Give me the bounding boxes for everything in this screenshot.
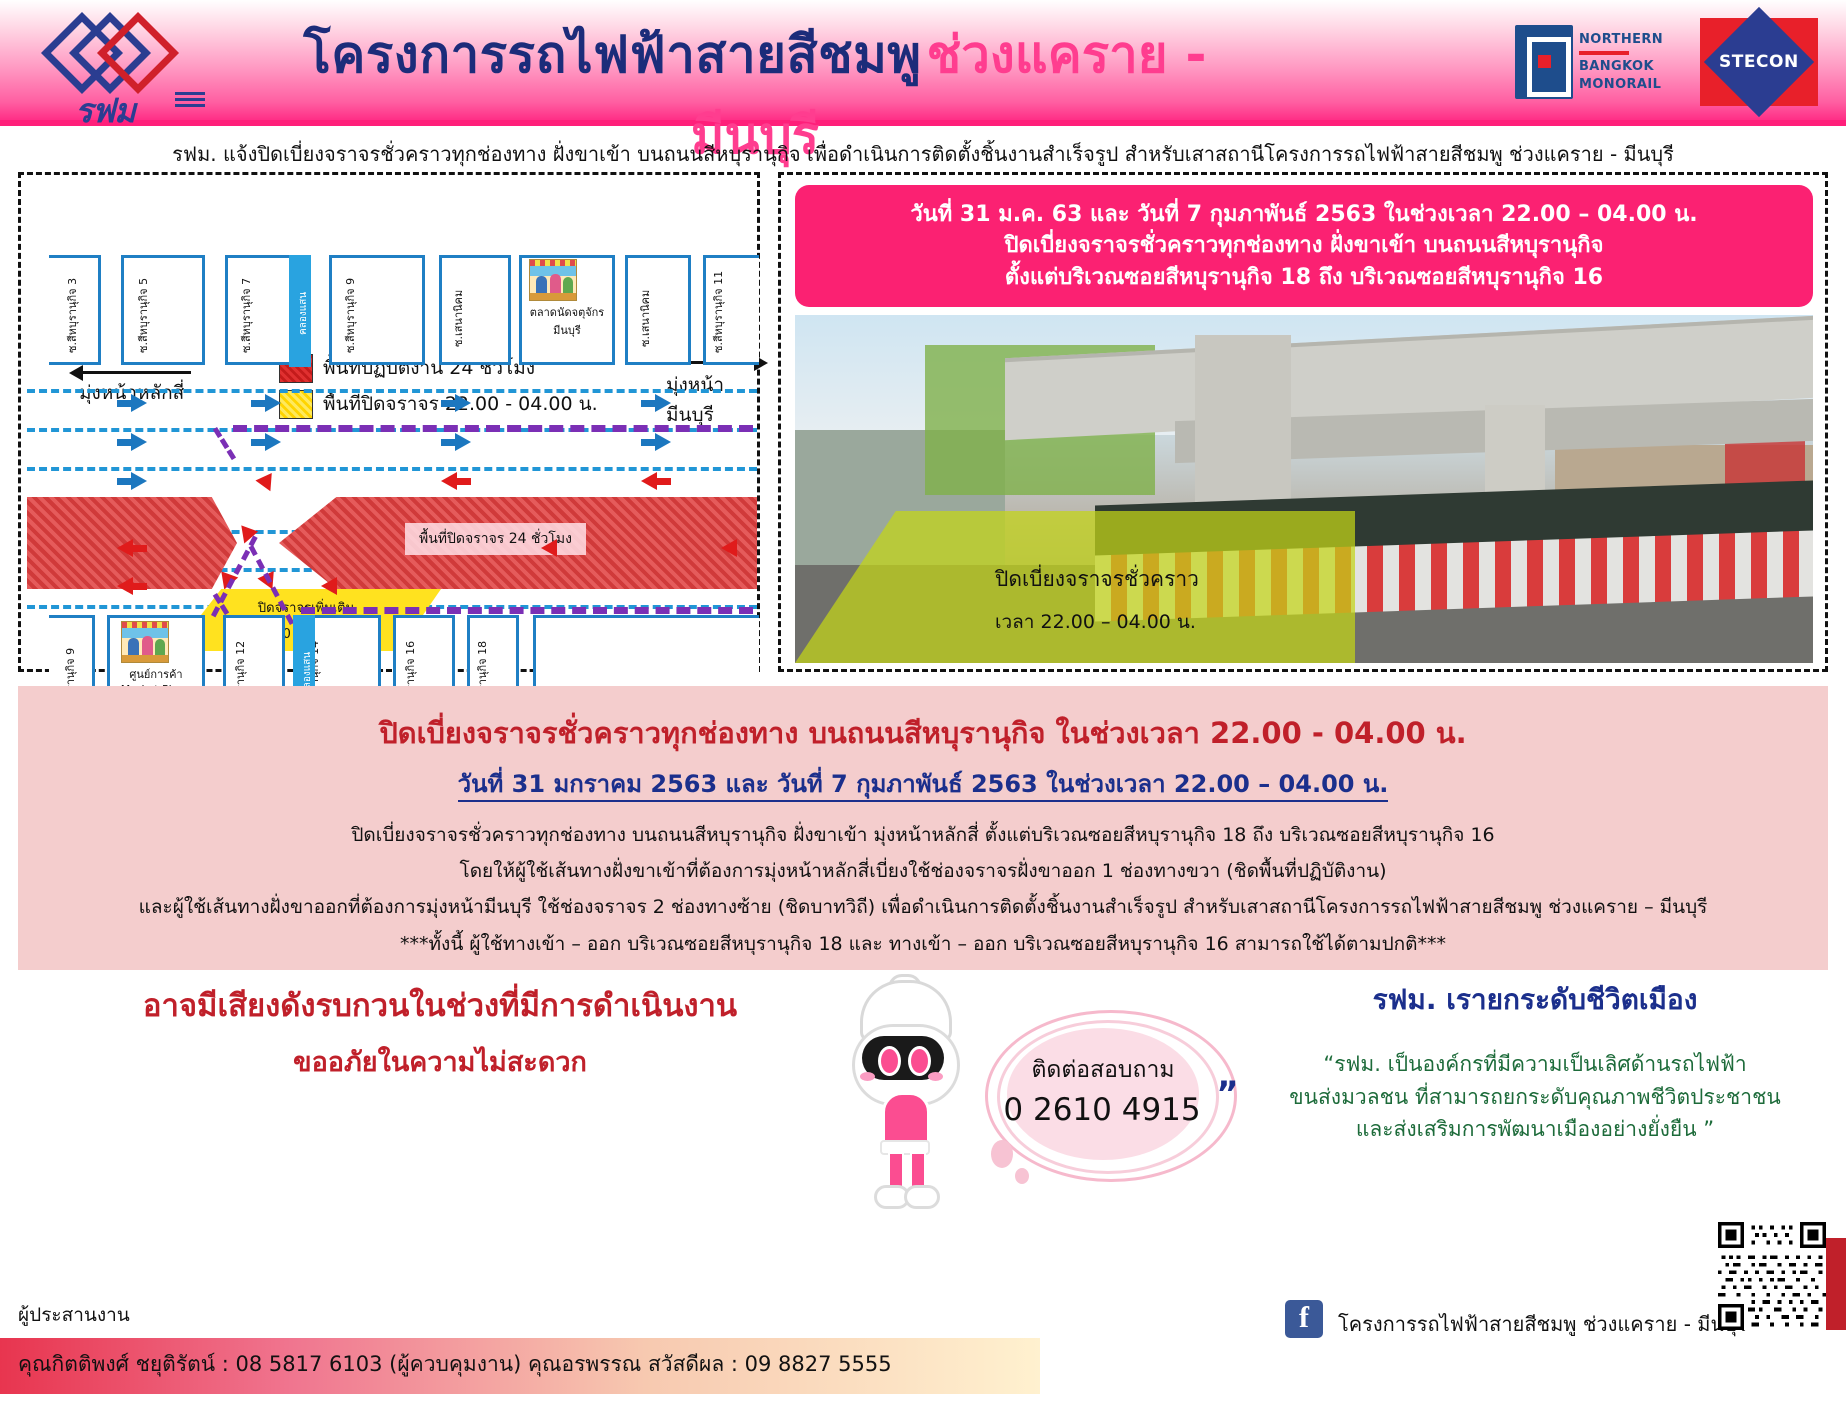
mascot-cheek-left [860, 1072, 875, 1081]
quote-line-3: และส่งเสริมการพัฒนาเมืองอย่างยั่งยืน ” [1255, 1113, 1815, 1146]
robot-mascot [830, 980, 980, 1210]
main-paragraph-3: และผู้ใช้เส้นทางฝั่งขาออกที่ต้องการมุ่งห… [18, 892, 1828, 922]
soi-label-top-3: ซ.สีหบุรานุกิจ 7 [237, 278, 255, 353]
slogan-column: รฟม. เรายกระดับชีวิตเมือง „ “รฟม. เป็นอง… [1255, 978, 1815, 1146]
coordinator-contacts: คุณกิตติพงศ์ ชยุติรัตน์ : 08 5817 6103 (… [18, 1348, 892, 1381]
market-icon-bottom [121, 621, 169, 663]
mrta-logo-bars [175, 92, 205, 110]
soi-label-top-2: ซ.สีหบุรานุกิจ 5 [134, 278, 152, 353]
blue-arrow-stem-7 [441, 439, 455, 446]
nbm-line-1: NORTHERN [1579, 31, 1663, 49]
soi-label-top-7: ซ.สีหบุรานุกิจ 11 [709, 271, 727, 353]
stecon-logo: STECON [1700, 18, 1818, 106]
blue-arrow-right-6-icon [265, 433, 281, 451]
qr-code[interactable] [1718, 1222, 1826, 1330]
photo-banner-line-3: ตั้งแต่บริเวณซอยสีหบุรานุกิจ 18 ถึง บริเ… [1005, 264, 1603, 292]
facebook-icon[interactable]: f [1285, 1300, 1323, 1338]
blue-arrow-right-7-icon [455, 433, 471, 451]
phone-decor-dot-1 [991, 1140, 1013, 1168]
stecon-diamond-icon: STECON [1704, 7, 1814, 117]
blue-arrow-right-4-icon [655, 394, 671, 412]
nbm-line-2: BANGKOK [1579, 58, 1663, 76]
soi-block-top-6 [625, 255, 691, 365]
blue-arrow-right-5-icon [131, 433, 147, 451]
photo-banner-line-1: วันที่ 31 ม.ค. 63 และ วันที่ 7 กุมภาพันธ… [910, 201, 1697, 229]
soi-label-top-4: ซ.สีหบุรานุกิจ 9 [341, 278, 359, 353]
photo-banner-line-2: ปิดเบี่ยงจราจรชั่วคราวทุกช่องทาง ฝั่งขาเ… [1005, 232, 1604, 260]
nbm-divider [1579, 51, 1629, 55]
mrta-logo: รฟม [35, 14, 220, 114]
mascot-eye-right [908, 1046, 931, 1076]
legend-item-closure-zone: พื้นที่ปิดจราจร 22.00 - 04.00 น. [279, 389, 598, 419]
stecon-logo-text: STECON [1719, 52, 1799, 72]
blue-arrow-stem-8 [641, 439, 655, 446]
nbm-line-3: MONORAIL [1579, 76, 1663, 94]
contact-label: ติดต่อสอบถาม [1007, 1052, 1199, 1088]
main-heading: ปิดเบี่ยงจราจรชั่วคราวทุกช่องทาง บนถนนสี… [18, 710, 1828, 756]
direction-right-label: มุ่งหน้ามีนบุรี [666, 370, 757, 430]
soi-label-top-5: ซ.เสนานิคม [449, 290, 467, 347]
northern-bangkok-monorail-logo: NORTHERN BANGKOK MONORAIL [1515, 20, 1705, 104]
facebook-page-name[interactable]: โครงการรถไฟฟ้าสายสีชมพู ช่วงแคราย - มีนบ… [1338, 1308, 1748, 1340]
blue-arrow-right-2-icon [265, 394, 281, 412]
quote-line-1: “รฟม. เป็นองค์กรที่มีความเป็นเลิศด้านรถไ… [1255, 1048, 1815, 1081]
blue-arrow-stem-5 [117, 439, 131, 446]
red-arrow-left-7-icon [541, 539, 557, 557]
red-arrow-stem-4 [133, 583, 147, 590]
red-arrow-left-1-icon [441, 472, 457, 490]
blue-arrow-right-9-icon [131, 472, 147, 490]
purple-detour-lane-bottom [301, 607, 753, 614]
photo-caption-1: ปิดเบี่ยงจราจรชั่วคราว [995, 563, 1199, 596]
legend-swatch-yellow-icon [279, 390, 313, 419]
main-info-block: ปิดเบี่ยงจราจรชั่วคราวทุกช่องทาง บนถนนสี… [18, 686, 1828, 970]
red-arrow-left-4-icon [117, 577, 133, 595]
coordinator-label: ผู้ประสานงาน [18, 1300, 130, 1330]
blue-arrow-right-1-icon [131, 394, 147, 412]
photo-caption-2: เวลา 22.00 – 04.00 น. [995, 607, 1196, 637]
traffic-diagram-panel: มุ่งหน้าหลักสี่ มุ่งหน้ามีนบุรี พื้นที่ป… [18, 172, 760, 672]
phone-decor-dot-2 [1015, 1168, 1029, 1184]
announcement-subtitle: รฟม. แจ้งปิดเบี่ยงจราจรชั่วคราวทุกช่องทา… [0, 138, 1846, 170]
quote-mark: „ [1217, 1056, 1239, 1096]
red-arrow-left-2-icon [641, 472, 657, 490]
blue-arrow-stem-6 [251, 439, 265, 446]
apology-heading-2: ขออภัยในความไม่สะดวก [60, 1040, 820, 1083]
page-footer: อาจมีเสียงดังรบกวนในช่วงที่มีการดำเนินงา… [0, 970, 1846, 1415]
page-title-blue: โครงการรถไฟฟ้าสายสีชมพู [303, 26, 921, 85]
blue-arrow-stem-9 [117, 478, 131, 485]
slogan-heading: รฟม. เรายกระดับชีวิตเมือง [1255, 978, 1815, 1022]
blue-arrow-right-8-icon [655, 433, 671, 451]
poster-page: รฟม โครงการรถไฟฟ้าสายสีชมพู ช่วงแคราย - … [0, 0, 1846, 1415]
contact-number[interactable]: 0 2610 4915 [999, 1092, 1205, 1128]
mascot-eye-left [878, 1046, 901, 1076]
blue-arrow-stem-3 [441, 400, 455, 407]
red-arrow-stem-3 [133, 545, 147, 552]
page-header: รฟม โครงการรถไฟฟ้าสายสีชมพู ช่วงแคราย - … [0, 0, 1846, 126]
purple-detour-lane-top [233, 425, 753, 432]
red-arrow-stem-1 [457, 478, 471, 485]
market-icon-top [529, 259, 577, 301]
direction-left-line [76, 371, 191, 374]
market-label-top-2: มีนบุรี [519, 321, 615, 339]
blue-arrow-right-3-icon [455, 394, 471, 412]
mrta-logo-text: รฟม [75, 84, 135, 137]
nbm-mark-icon [1515, 25, 1573, 99]
blue-arrow-stem-1 [117, 400, 131, 407]
red-zone-caption: พื้นที่ปิดจราจร 24 ชั่วโมง [405, 523, 586, 555]
contact-phone-bubble[interactable]: ติดต่อสอบถาม 0 2610 4915 [985, 1010, 1235, 1180]
lane-divider-1 [27, 389, 757, 393]
lane-divider-3 [27, 467, 757, 471]
main-paragraph-2: โดยให้ผู้ใช้เส้นทางฝั่งขาเข้าที่ต้องการม… [18, 856, 1828, 886]
photo-panel: วันที่ 31 ม.ค. 63 และ วันที่ 7 กุมภาพันธ… [778, 172, 1828, 672]
red-arrow-left-3-icon [117, 539, 133, 557]
blue-arrow-stem-4 [641, 400, 655, 407]
red-arrow-stem-2 [657, 478, 671, 485]
market-label-top: ตลาดนัดจตุจักร [519, 303, 615, 321]
qr-side-bar [1826, 1238, 1846, 1330]
mascot-foot-right [904, 1185, 940, 1209]
red-arrow-left-6-icon [321, 577, 337, 595]
soi-label-top-6: ซ.เสนานิคม [636, 290, 654, 347]
main-paragraph-4: ***ทั้งนี้ ผู้ใช้ทางเข้า – ออก บริเวณซอย… [18, 929, 1828, 959]
photo-pink-banner: วันที่ 31 ม.ค. 63 และ วันที่ 7 กุมภาพันธ… [795, 185, 1813, 307]
soi-label-top-1: ซ.สีหบุรานุกิจ 3 [63, 278, 81, 353]
apology-heading-1: อาจมีเสียงดังรบกวนในช่วงที่มีการดำเนินงา… [60, 980, 820, 1030]
construction-site-photo: ปิดเบี่ยงจราจรชั่วคราว เวลา 22.00 – 04.0… [795, 315, 1813, 663]
canal-label-top: คลองแสน [296, 292, 311, 335]
main-subheading: วันที่ 31 มกราคม 2563 และ วันที่ 7 กุมภา… [18, 764, 1828, 803]
blue-arrow-stem-2 [251, 400, 265, 407]
red-arrow-left-8-icon [721, 539, 737, 557]
market-label-bottom-1: ศูนย์การค้า [107, 665, 205, 683]
main-subheading-text: วันที่ 31 มกราคม 2563 และ วันที่ 7 กุมภา… [458, 770, 1389, 802]
red-merge-arrow-1-icon [255, 473, 278, 495]
main-paragraph-1: ปิดเบี่ยงจราจรชั่วคราวทุกช่องทาง บนถนนสี… [18, 820, 1828, 850]
quote-line-2: ขนส่งมวลชน ที่สามารถยกระดับคุณภาพชีวิตปร… [1255, 1081, 1815, 1114]
mascot-cheek-right [928, 1072, 943, 1081]
